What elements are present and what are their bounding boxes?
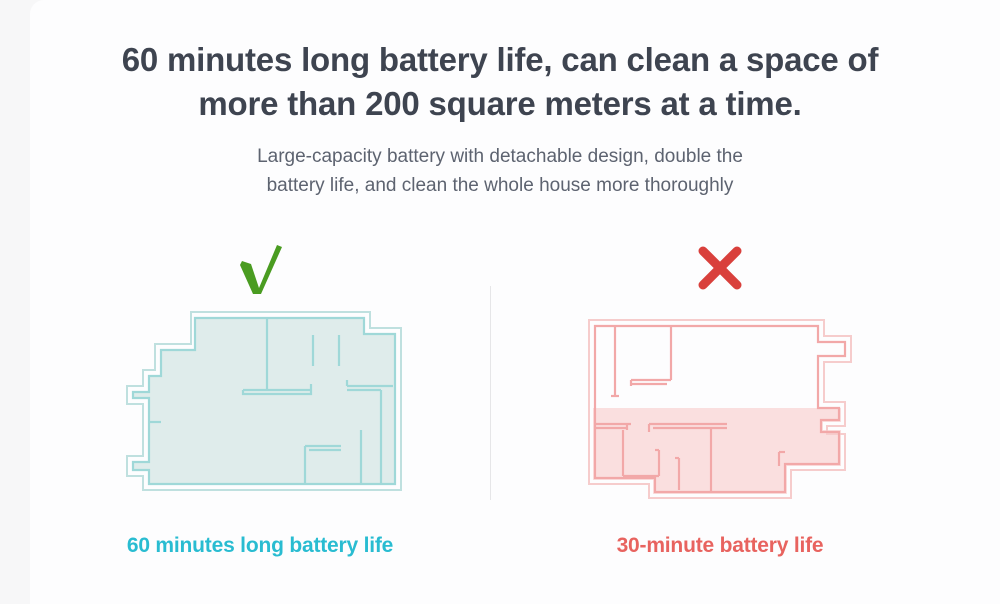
caption-bad: 30-minute battery life — [520, 534, 920, 558]
subhead-line-1: Large-capacity battery with detachable d… — [257, 146, 743, 167]
floorplan-full-coverage — [60, 300, 460, 520]
page-subtitle: Large-capacity battery with detachable d… — [140, 143, 860, 200]
vertical-divider — [490, 286, 491, 500]
check-mark-icon — [60, 240, 460, 300]
cross-mark-icon — [520, 240, 920, 300]
infographic-page: 60 minutes long battery life, can clean … — [0, 0, 1000, 604]
floorplan-partial-coverage — [520, 300, 920, 520]
page-title: 60 minutes long battery life, can clean … — [60, 38, 940, 126]
comparison-panel-bad: 30-minute battery life — [520, 240, 920, 558]
headline-line-1: 60 minutes long battery life, can clean … — [122, 41, 879, 78]
caption-good: 60 minutes long battery life — [60, 534, 460, 558]
subhead-line-2: battery life, and clean the whole house … — [140, 172, 860, 201]
headline-line-2: more than 200 square meters at a time. — [60, 82, 940, 126]
comparison-panel-good: 60 minutes long battery life — [60, 240, 460, 558]
